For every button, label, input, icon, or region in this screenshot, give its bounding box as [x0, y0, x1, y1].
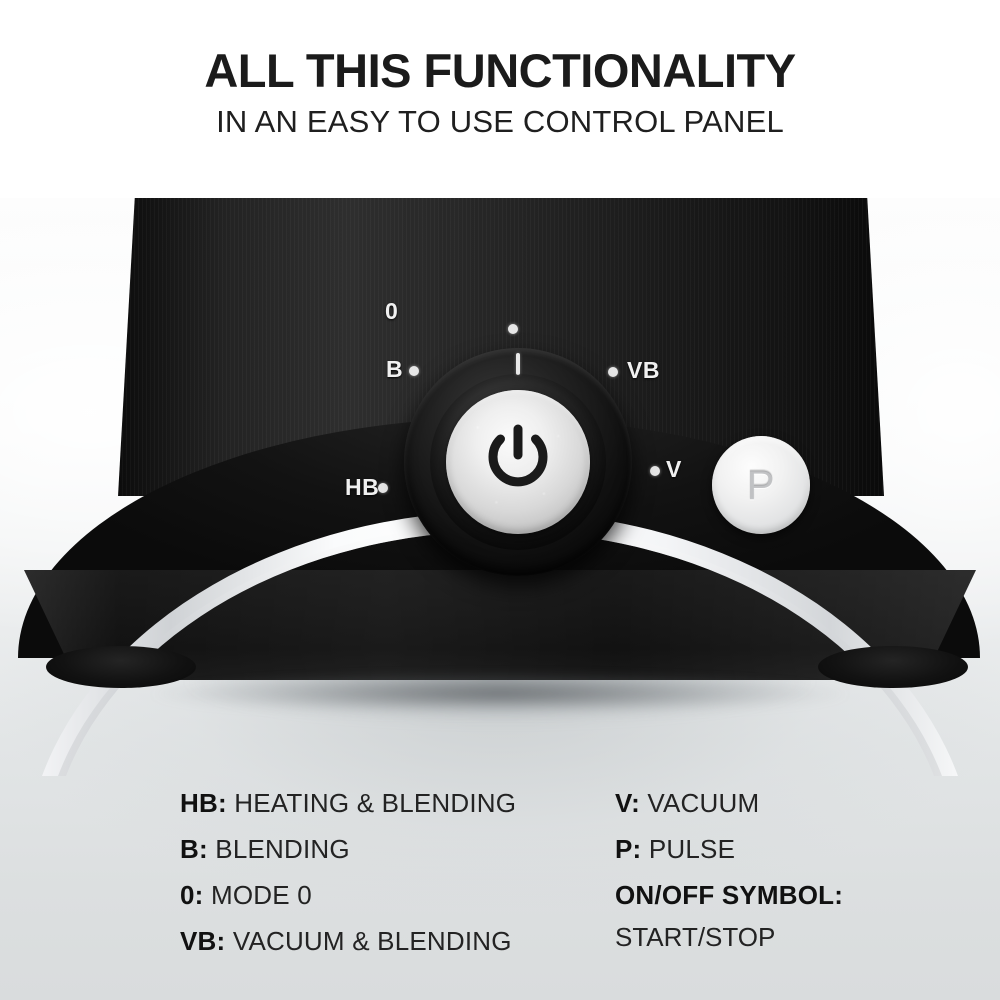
legend-value: HEATING & BLENDING	[234, 788, 516, 818]
legend-value: VACUUM & BLENDING	[233, 926, 512, 956]
legend-value: START/STOP	[615, 918, 975, 956]
legend-value: MODE 0	[211, 880, 312, 910]
legend-key: HB:	[180, 788, 227, 818]
power-on-off-icon	[484, 423, 552, 497]
legend-key: ON/OFF SYMBOL:	[615, 880, 843, 910]
legend: HB: HEATING & BLENDING B: BLENDING 0: MO…	[0, 780, 1000, 970]
legend-item: V: VACUUM	[615, 780, 975, 826]
legend-key: V:	[615, 788, 640, 818]
mode-hb-marking: HB	[345, 474, 379, 501]
legend-item: VB: VACUUM & BLENDING	[180, 918, 600, 964]
legend-key: P:	[615, 834, 641, 864]
pulse-button-label: P	[712, 436, 810, 534]
knob-position-tick-icon	[516, 353, 520, 375]
legend-item: HB: HEATING & BLENDING	[180, 780, 600, 826]
mode-0-dot	[508, 324, 518, 334]
legend-column-left: HB: HEATING & BLENDING B: BLENDING 0: MO…	[180, 780, 600, 964]
legend-key: B:	[180, 834, 208, 864]
appliance-floor-shadow	[60, 668, 940, 720]
mode-vb-dot	[608, 367, 618, 377]
mode-v-marking: V	[666, 456, 682, 483]
mode-hb-dot	[378, 483, 388, 493]
legend-key: VB:	[180, 926, 225, 956]
legend-item: B: BLENDING	[180, 826, 600, 872]
legend-column-right: V: VACUUM P: PULSE ON/OFF SYMBOL: START/…	[615, 780, 975, 956]
legend-value: PULSE	[649, 834, 735, 864]
legend-value: VACUUM	[647, 788, 759, 818]
mode-0-marking: 0	[385, 298, 398, 325]
legend-value: BLENDING	[215, 834, 350, 864]
header-banner: ALL THIS FUNCTIONALITY IN AN EASY TO USE…	[0, 0, 1000, 198]
page-subtitle: IN AN EASY TO USE CONTROL PANEL	[0, 104, 1000, 140]
legend-item: P: PULSE	[615, 826, 975, 872]
mode-v-dot	[650, 466, 660, 476]
legend-item-onoff: ON/OFF SYMBOL:	[615, 872, 975, 918]
mode-b-marking: B	[386, 356, 403, 383]
page-title: ALL THIS FUNCTIONALITY	[0, 44, 1000, 98]
mode-b-dot	[409, 366, 419, 376]
infographic-page: ALL THIS FUNCTIONALITY IN AN EASY TO USE…	[0, 0, 1000, 1000]
mode-vb-marking: VB	[627, 357, 660, 384]
legend-key: 0:	[180, 880, 204, 910]
legend-item: 0: MODE 0	[180, 872, 600, 918]
